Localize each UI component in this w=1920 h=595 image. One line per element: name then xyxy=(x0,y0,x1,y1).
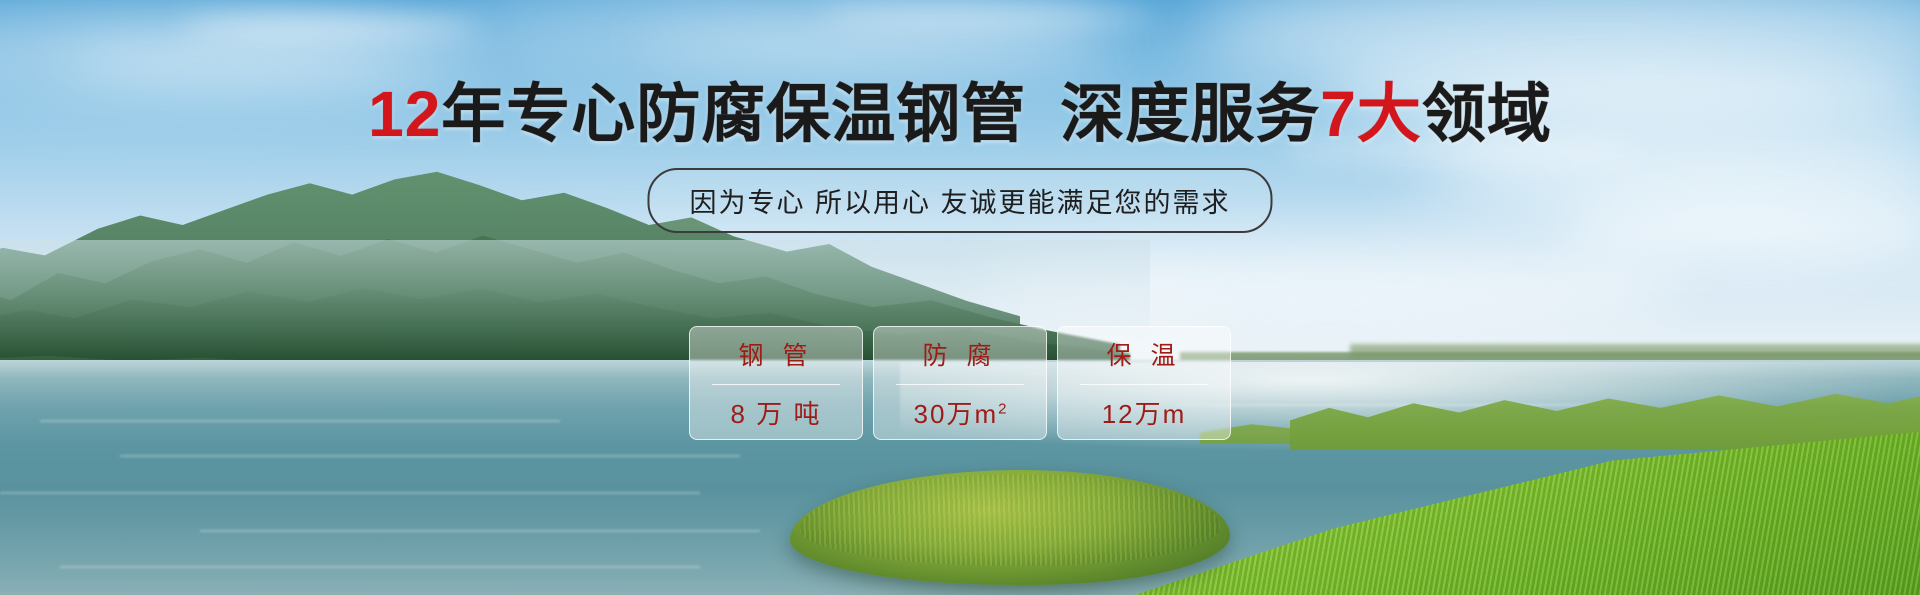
headline-service-text: 深度服务 xyxy=(1060,78,1320,150)
stat-value-superscript: 2 xyxy=(998,400,1006,417)
stat-card-anticorrosion[interactable]: 防 腐 30万m2 xyxy=(873,326,1047,440)
headline-fields-text: 领域 xyxy=(1422,78,1552,150)
stat-value-text: 8 万 吨 xyxy=(731,399,822,429)
stat-card-label: 防 腐 xyxy=(896,336,1024,385)
headline-fields-count: 7大 xyxy=(1320,78,1422,150)
banner-subtitle-pill: 因为专心 所以用心 友诚更能满足您的需求 xyxy=(647,168,1272,233)
headline-years-number: 12 xyxy=(368,78,441,150)
stat-card-label: 钢 管 xyxy=(712,336,840,385)
stat-value-text: 30万m xyxy=(914,399,999,429)
stat-cards: 钢 管 8 万 吨 防 腐 30万m2 保 温 12万m xyxy=(689,326,1231,440)
stat-value-text: 12万m xyxy=(1102,399,1187,429)
stat-card-label: 保 温 xyxy=(1080,336,1208,385)
banner-headline: 12年专心防腐保温钢管深度服务7大领域 xyxy=(0,82,1920,146)
stat-card-value: 30万m2 xyxy=(914,394,1007,431)
stat-card-value: 12万m xyxy=(1102,394,1187,431)
stat-card-steel-pipe[interactable]: 钢 管 8 万 吨 xyxy=(689,326,863,440)
headline-main-text: 年专心防腐保温钢管 xyxy=(441,78,1026,150)
stat-card-insulation[interactable]: 保 温 12万m xyxy=(1057,326,1231,440)
stat-card-value: 8 万 吨 xyxy=(731,394,822,431)
hero-banner: 12年专心防腐保温钢管深度服务7大领域 因为专心 所以用心 友诚更能满足您的需求… xyxy=(0,0,1920,595)
